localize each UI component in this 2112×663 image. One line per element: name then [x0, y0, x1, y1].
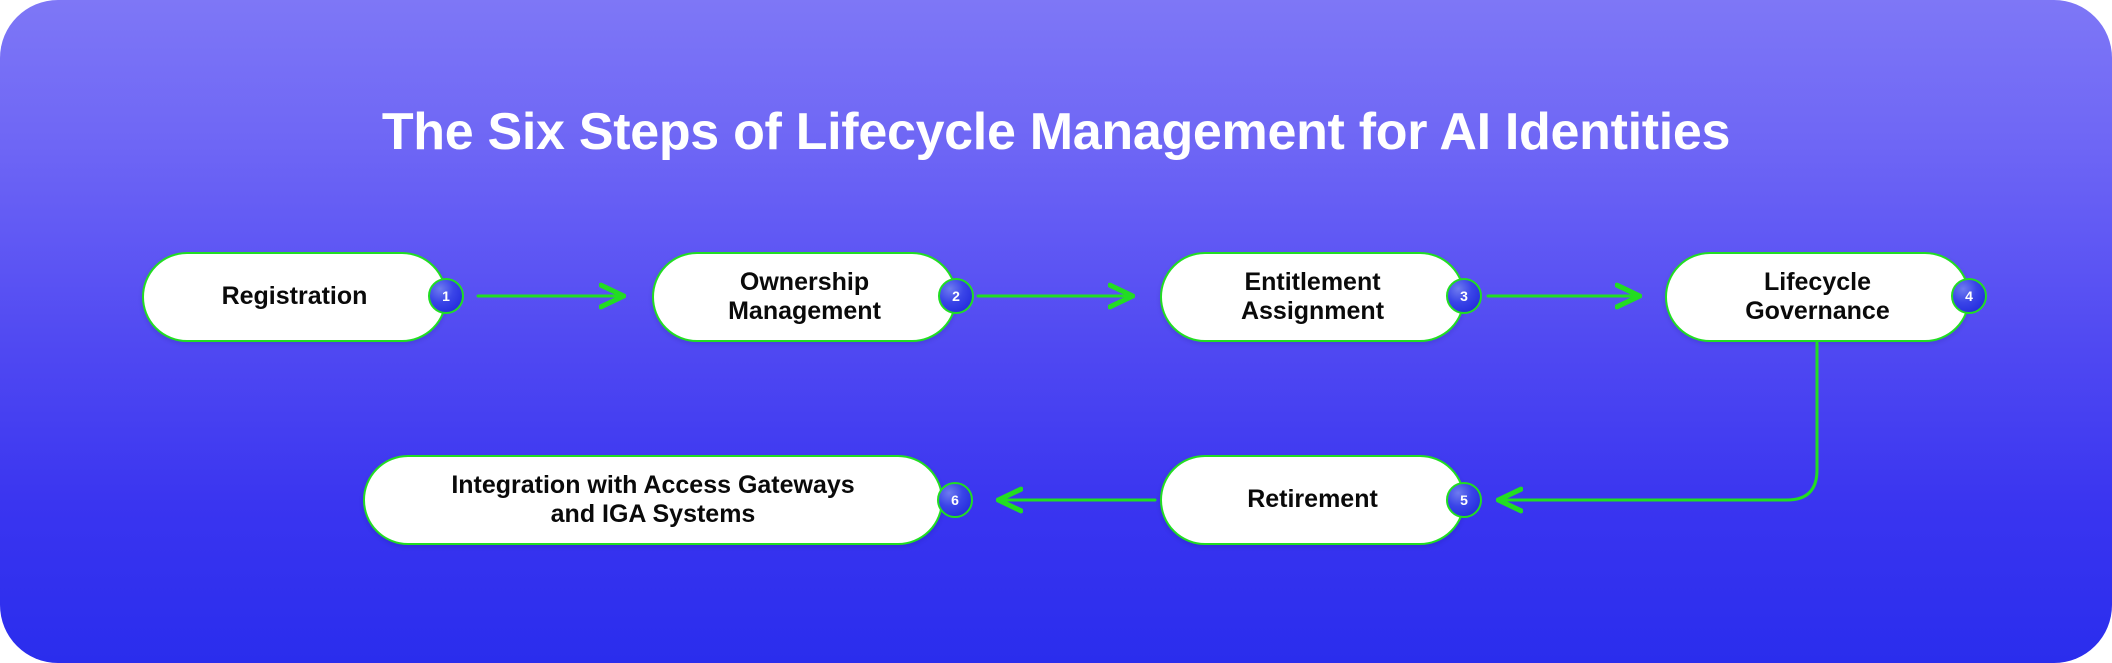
step-badge-1: 1: [428, 278, 464, 314]
step-badge-6: 6: [937, 482, 973, 518]
step-badge-5: 5: [1446, 482, 1482, 518]
step-node-6-label: Integration with Access Gateways and IGA…: [451, 471, 854, 530]
step-badge-3: 3: [1446, 278, 1482, 314]
step-node-3-label: Entitlement Assignment: [1241, 268, 1384, 327]
step-node-1-label: Registration: [222, 282, 368, 312]
step-node-5[interactable]: Retirement: [1160, 455, 1465, 545]
step-node-4[interactable]: Lifecycle Governance: [1665, 252, 1970, 342]
step-node-4-label: Lifecycle Governance: [1745, 268, 1890, 327]
step-node-2[interactable]: Ownership Management: [652, 252, 957, 342]
step-node-5-label: Retirement: [1247, 485, 1378, 515]
diagram-canvas: The Six Steps of Lifecycle Management fo…: [0, 0, 2112, 663]
step-badge-4: 4: [1951, 278, 1987, 314]
page-title: The Six Steps of Lifecycle Management fo…: [0, 104, 2112, 160]
step-node-1[interactable]: Registration: [142, 252, 447, 342]
step-node-6[interactable]: Integration with Access Gateways and IGA…: [363, 455, 943, 545]
step-badge-2: 2: [938, 278, 974, 314]
step-node-2-label: Ownership Management: [728, 268, 881, 327]
step-node-3[interactable]: Entitlement Assignment: [1160, 252, 1465, 342]
